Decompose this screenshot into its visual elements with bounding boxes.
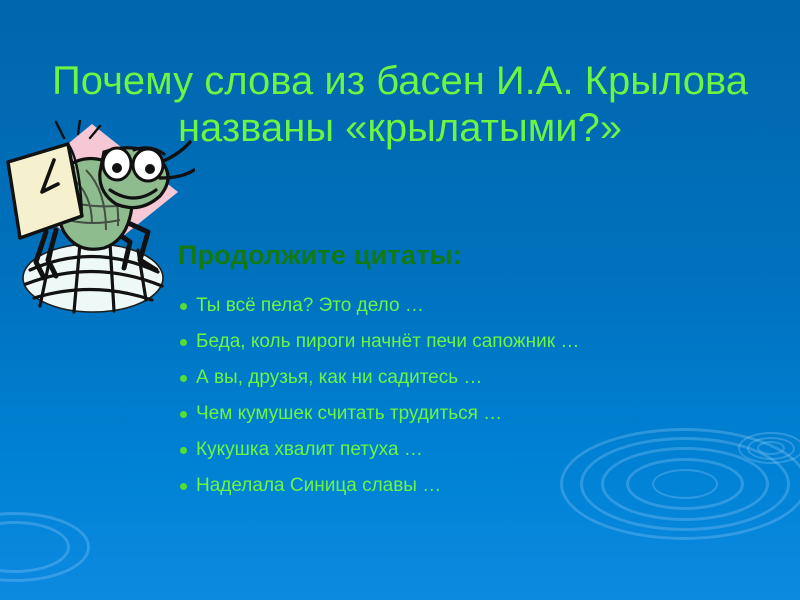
bullet-icon — [180, 447, 187, 454]
list-item-label: Ты всё пела? Это дело … — [196, 295, 424, 316]
slide-canvas: Почему слова из басен И.А. Крылова назва… — [0, 0, 800, 600]
quote-list: Ты всё пела? Это дело … Беда, коль пирог… — [178, 288, 778, 504]
list-item-label: Наделала Синица славы … — [196, 475, 441, 496]
bullet-icon — [180, 375, 187, 382]
slide-title: Почему слова из басен И.А. Крылова назва… — [20, 58, 780, 152]
ripple-ring — [0, 521, 70, 573]
grasshopper-pupil-left — [112, 163, 122, 173]
bullet-icon — [180, 339, 187, 346]
bullet-icon — [180, 483, 187, 490]
list-item: Чем кумушек считать трудиться … — [178, 396, 778, 432]
list-item-label: Беда, коль пироги начнёт печи сапожник … — [196, 331, 579, 352]
list-item: Наделала Синица славы … — [178, 468, 778, 504]
list-item-label: Кукушка хвалит петуха … — [196, 439, 423, 460]
content-block: Продолжите цитаты: Ты всё пела? Это дело… — [178, 238, 778, 504]
list-item-label: А вы, друзья, как ни садитесь … — [196, 367, 482, 388]
list-item: Кукушка хвалит петуха … — [178, 432, 778, 468]
list-item-label: Чем кумушек считать трудиться … — [196, 403, 502, 424]
bullet-icon — [180, 411, 187, 418]
bullet-icon — [180, 303, 187, 310]
list-item: А вы, друзья, как ни садитесь … — [178, 360, 778, 396]
content-subtitle: Продолжите цитаты: — [178, 238, 778, 272]
grasshopper-pupil-right — [145, 164, 155, 174]
list-item: Ты всё пела? Это дело … — [178, 288, 778, 324]
ripple-ring — [0, 512, 90, 582]
list-item: Беда, коль пироги начнёт печи сапожник … — [178, 324, 778, 360]
